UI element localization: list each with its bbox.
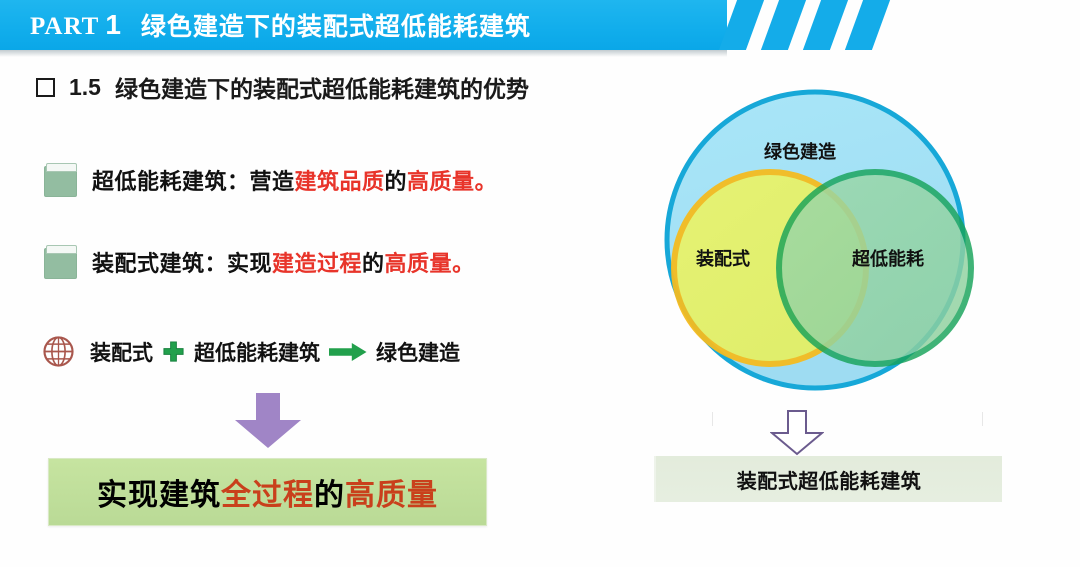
bullet-2-seg-2: 的 bbox=[362, 252, 385, 277]
stripe-1 bbox=[719, 0, 764, 50]
result-seg-0: 实现建筑 bbox=[97, 478, 221, 513]
right-arrow-icon bbox=[329, 342, 367, 362]
result-seg-3: 高质量 bbox=[345, 478, 438, 513]
venn-label-left: 装配式 bbox=[696, 245, 750, 271]
decor-tick-right bbox=[982, 412, 983, 426]
part-number: 1 bbox=[105, 9, 121, 40]
down-arrow-outline-icon bbox=[770, 410, 824, 456]
section-subtitle: 1.5 绿色建造下的装配式超低能耗建筑的优势 bbox=[36, 70, 529, 104]
formula-expression: 装配式 超低能耗建筑 绿色建造 bbox=[90, 337, 460, 367]
bullet-2-text: 装配式建筑：实现建造过程的高质量。 bbox=[92, 246, 475, 278]
book-icon bbox=[44, 245, 77, 278]
formula-term-2: 超低能耗建筑 bbox=[194, 337, 320, 367]
header-main-title: 绿色建造下的装配式超低能耗建筑 bbox=[141, 7, 531, 43]
result-box: 实现建筑全过程的高质量 bbox=[48, 458, 487, 526]
book-icon bbox=[44, 163, 77, 196]
venn-diagram: 绿色建造 装配式 超低能耗 bbox=[660, 88, 1016, 408]
slide-root: PART1 绿色建造下的装配式超低能耗建筑 1.5 绿色建造下的装配式超低能耗建… bbox=[0, 0, 1080, 567]
header-title: PART1 绿色建造下的装配式超低能耗建筑 bbox=[30, 0, 531, 50]
square-outline-icon bbox=[36, 78, 55, 97]
bullet-2-seg-1: 建造过程 bbox=[272, 252, 362, 277]
stripe-4 bbox=[845, 0, 890, 50]
bullet-1-text: 超低能耗建筑：营造建筑品质的高质量。 bbox=[92, 164, 497, 196]
down-arrow-icon bbox=[232, 393, 304, 449]
stripe-3 bbox=[803, 0, 848, 50]
decor-tick-left bbox=[712, 412, 713, 426]
formula-row: 装配式 超低能耗建筑 绿色建造 bbox=[42, 335, 460, 368]
stripe-2 bbox=[761, 0, 806, 50]
bullet-1-seg-2: 的 bbox=[385, 170, 408, 195]
part-label: PART bbox=[30, 13, 99, 40]
bullet-2-seg-4: 。 bbox=[452, 252, 475, 277]
result-box-text: 实现建筑全过程的高质量 bbox=[97, 470, 438, 514]
bullet-row-1: 超低能耗建筑：营造建筑品质的高质量。 bbox=[44, 163, 497, 196]
bullet-1-seg-4: 。 bbox=[475, 170, 498, 195]
header-shadow bbox=[0, 50, 727, 57]
bullet-1-seg-1: 建筑品质 bbox=[295, 170, 385, 195]
result-seg-1: 全过程 bbox=[221, 478, 314, 513]
formula-term-1: 装配式 bbox=[90, 337, 153, 367]
bullet-1-seg-0: 超低能耗建筑：营造 bbox=[92, 170, 295, 195]
bullet-row-2: 装配式建筑：实现建造过程的高质量。 bbox=[44, 245, 475, 278]
result-seg-2: 的 bbox=[314, 478, 345, 513]
subtitle-number: 1.5 bbox=[69, 74, 101, 101]
bullet-1-seg-3: 高质量 bbox=[407, 170, 475, 195]
venn-label-right: 超低能耗 bbox=[852, 245, 924, 271]
bullet-2-seg-0: 装配式建筑：实现 bbox=[92, 252, 272, 277]
bottom-label-text: 装配式超低能耗建筑 bbox=[737, 465, 922, 494]
globe-icon bbox=[42, 335, 75, 368]
header-stripes bbox=[700, 0, 900, 52]
venn-label-outer: 绿色建造 bbox=[764, 138, 836, 164]
formula-result: 绿色建造 bbox=[376, 337, 460, 367]
subtitle-text: 绿色建造下的装配式超低能耗建筑的优势 bbox=[115, 70, 529, 104]
plus-icon bbox=[162, 340, 185, 363]
bullet-2-seg-3: 高质量 bbox=[385, 252, 453, 277]
bottom-label-box: 装配式超低能耗建筑 bbox=[654, 456, 1002, 502]
part-label-group: PART1 bbox=[30, 9, 121, 41]
